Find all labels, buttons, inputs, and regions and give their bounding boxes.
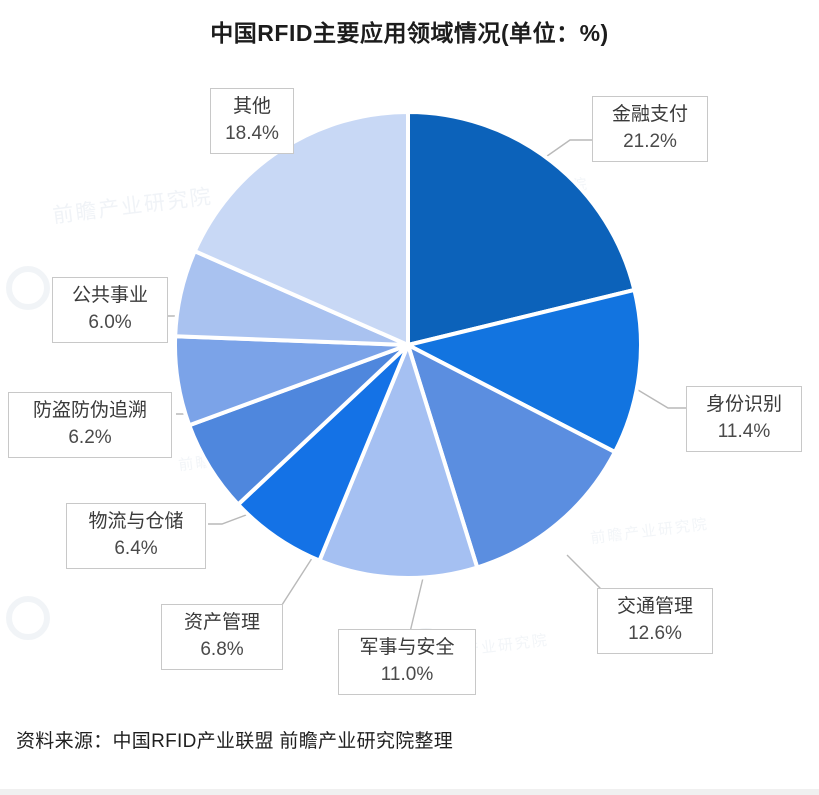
callout-value: 6.0% bbox=[62, 311, 158, 336]
callout-fangdaofangweizhuisu[interactable]: 防盗防伪追溯 6.2% bbox=[8, 392, 172, 458]
callout-label: 金融支付 bbox=[612, 104, 688, 125]
callout-label: 物流与仓储 bbox=[88, 511, 183, 532]
watermark-logo-ring bbox=[6, 266, 50, 310]
callout-label: 防盗防伪追溯 bbox=[33, 400, 147, 421]
callout-label: 身份识别 bbox=[706, 394, 782, 415]
callout-junshiyuanquan[interactable]: 军事与安全 11.0% bbox=[338, 629, 476, 695]
callout-value: 12.6% bbox=[607, 622, 703, 647]
callout-zichanguanli[interactable]: 资产管理 6.8% bbox=[161, 604, 283, 670]
pie-chart bbox=[173, 110, 643, 580]
pie-svg bbox=[173, 110, 643, 580]
chart-title: 中国RFID主要应用领域情况(单位：%) bbox=[0, 14, 819, 48]
callout-value: 6.4% bbox=[76, 537, 196, 562]
callout-value: 18.4% bbox=[220, 122, 284, 147]
callout-value: 21.2% bbox=[602, 130, 698, 155]
callout-gonggongshiye[interactable]: 公共事业 6.0% bbox=[52, 277, 168, 343]
callout-label: 公共事业 bbox=[72, 285, 148, 306]
chart-page: 前瞻产业研究院 前瞻产业研究院 前瞻产业研究院 前瞻产业研究院 前瞻产业研究院 … bbox=[0, 0, 819, 795]
callout-label: 军事与安全 bbox=[359, 637, 454, 658]
source-note: 资料来源：中国RFID产业联盟 前瞻产业研究院整理 bbox=[16, 726, 453, 753]
callout-value: 6.8% bbox=[171, 638, 273, 663]
callout-label: 资产管理 bbox=[184, 612, 260, 633]
callout-value: 11.4% bbox=[696, 420, 792, 445]
watermark-logo-ring bbox=[6, 596, 50, 640]
callout-shenfenshibie[interactable]: 身份识别 11.4% bbox=[686, 386, 802, 452]
callout-qita[interactable]: 其他 18.4% bbox=[210, 88, 294, 154]
callout-wuliuyucangchu[interactable]: 物流与仓储 6.4% bbox=[66, 503, 206, 569]
callout-jiaotongguanli[interactable]: 交通管理 12.6% bbox=[597, 588, 713, 654]
callout-label: 其他 bbox=[233, 96, 271, 117]
callout-label: 交通管理 bbox=[617, 596, 693, 617]
callout-jinrongzhifu[interactable]: 金融支付 21.2% bbox=[592, 96, 708, 162]
callout-value: 11.0% bbox=[348, 663, 466, 688]
callout-value: 6.2% bbox=[18, 426, 162, 451]
bottom-divider bbox=[0, 789, 819, 795]
